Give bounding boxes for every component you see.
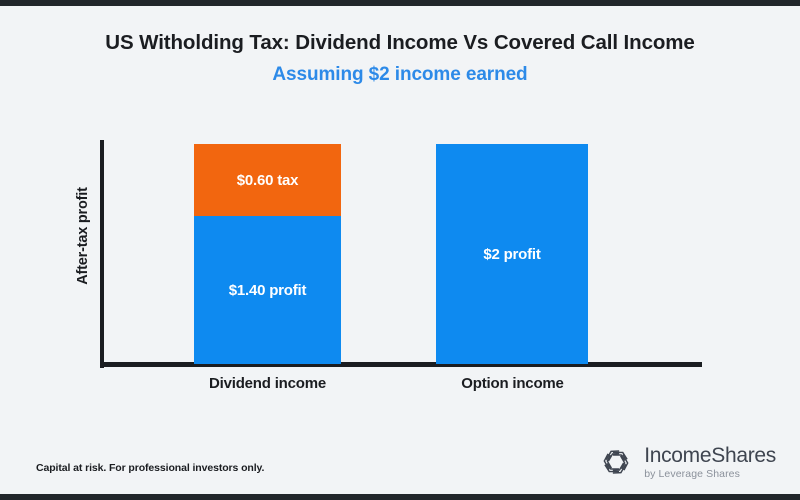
incomeshares-hexagon-pinwheel-logo-icon	[598, 444, 634, 480]
x-axis-line	[100, 362, 702, 367]
bar-segment-label-dividend-profit: $1.40 profit	[229, 282, 307, 299]
bar-segment-label-option-profit: $2 profit	[483, 246, 540, 263]
y-axis-label: After-tax profit	[75, 146, 91, 326]
bar-segment-label-dividend-tax: $0.60 tax	[237, 172, 299, 189]
y-axis-line	[100, 140, 104, 368]
plot-area: After-tax profit $0.60 tax $1.40 profit …	[0, 0, 800, 500]
bar-segment-dividend-tax[interactable]: $0.60 tax	[194, 144, 341, 216]
bar-segment-dividend-profit[interactable]: $1.40 profit	[194, 216, 341, 364]
bar-dividend-income[interactable]: $0.60 tax $1.40 profit	[194, 144, 341, 364]
logo-brand-name: IncomeShares	[644, 445, 776, 466]
disclaimer-text: Capital at risk. For professional invest…	[36, 462, 264, 474]
category-label-dividend-income: Dividend income	[160, 375, 375, 392]
incomeshares-logo: IncomeShares by Leverage Shares	[598, 444, 776, 480]
bar-segment-option-profit[interactable]: $2 profit	[436, 144, 588, 364]
logo-tagline: by Leverage Shares	[644, 469, 776, 480]
category-label-option-income: Option income	[405, 375, 620, 392]
bar-option-income[interactable]: $2 profit	[436, 144, 588, 364]
chart-canvas: US Witholding Tax: Dividend Income Vs Co…	[0, 0, 800, 500]
logo-text-block: IncomeShares by Leverage Shares	[644, 445, 776, 480]
